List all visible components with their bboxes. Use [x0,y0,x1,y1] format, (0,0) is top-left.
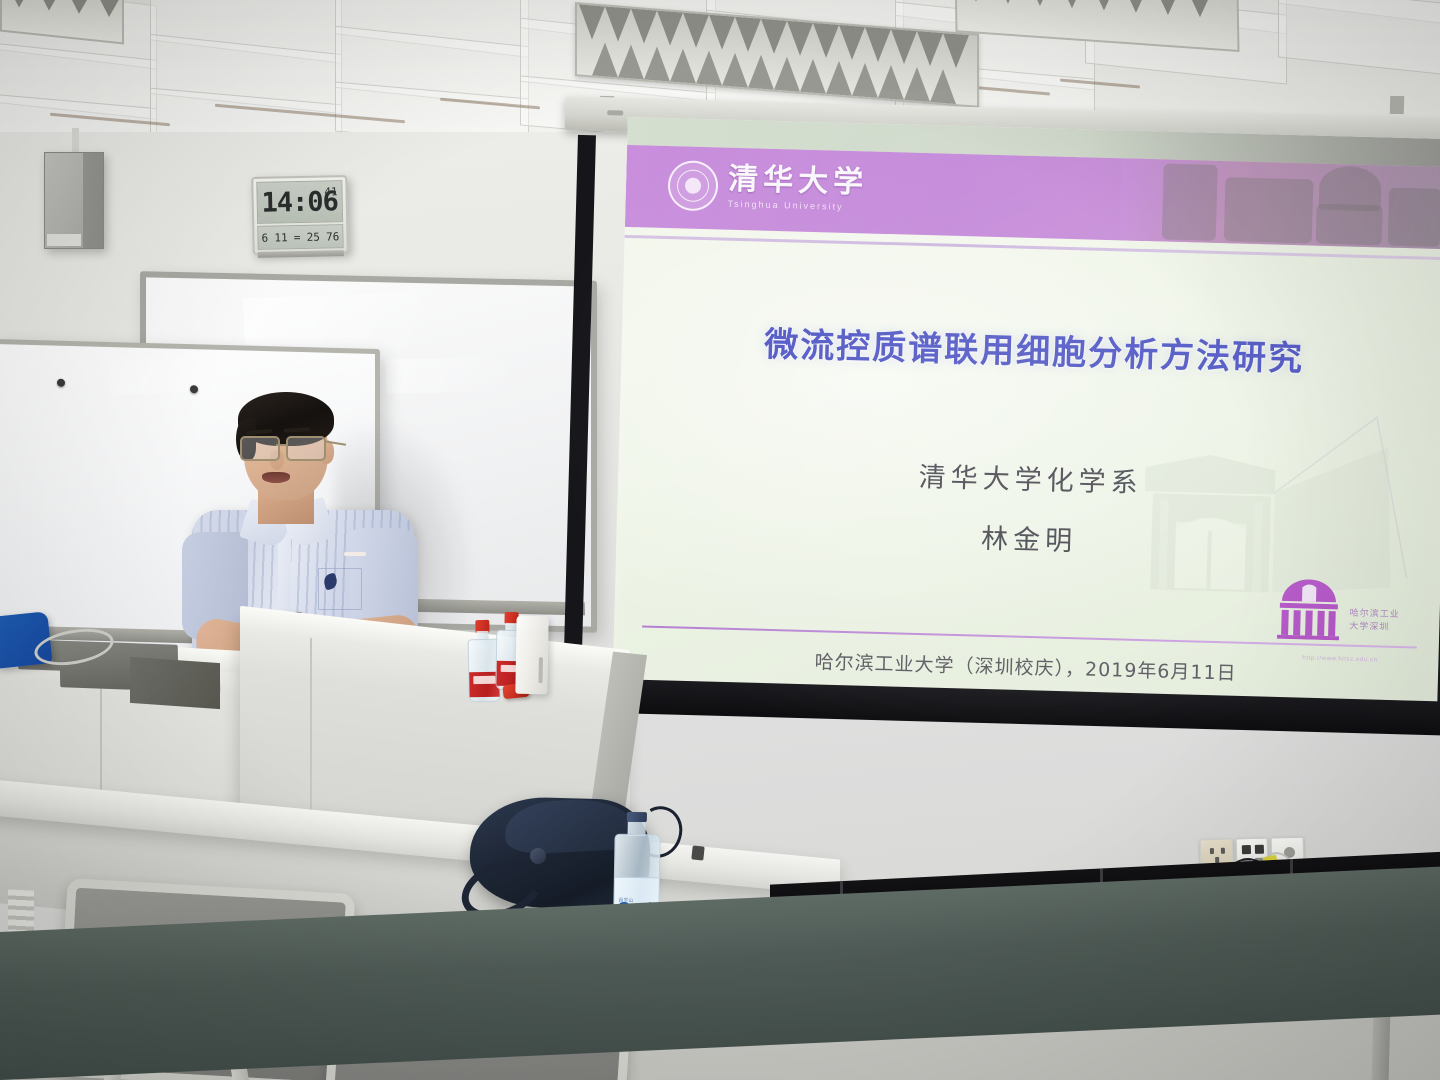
ganten-bottle-cap [627,812,647,822]
clock-sub-display: 6 11 = 25 76 [257,224,343,250]
glasses-lens-left [240,436,280,461]
thermos-flask[interactable] [515,616,548,695]
whiteboard-magnet [57,379,65,387]
small-object-on-table[interactable] [691,845,704,860]
lecture-hall-photo: 14:06 41 6 11 = 25 76 [0,0,1440,1080]
shirt-pocket [318,568,362,610]
clock-main-display: 14:06 41 [256,180,343,224]
tsinghua-wordmark: 清华大学 [728,165,869,199]
hit-logo-line2: 大学深圳 [1349,620,1423,635]
slide-header-campus-photo [1120,158,1440,249]
wall-clock: 14:06 41 6 11 = 25 76 [251,175,349,255]
equipment-box [130,657,220,709]
water-bottle[interactable] [467,620,498,703]
tsinghua-subtitle: Tsinghua University [727,199,867,213]
screen-mount-right [1390,96,1404,114]
clock-date-day: 11 [274,231,288,244]
presenter-glasses [240,436,336,458]
clock-separator: = [294,230,301,243]
projected-slide: 清华大学 Tsinghua University [612,117,1440,709]
clock-seconds: 41 [324,186,338,198]
glasses-lens-right [286,436,326,461]
hit-logo-text: 哈尔滨工业 大学深圳 [1349,607,1424,635]
backpack-buckle [530,848,546,864]
hit-shenzhen-logo [1265,576,1353,640]
clock-temperature: 25 [306,230,320,243]
tsinghua-seal-icon [667,160,718,211]
clock-date-month: 6 [261,231,268,244]
clock-humidity: 76 [326,230,340,243]
tsinghua-logo: 清华大学 Tsinghua University [667,160,868,215]
slide-title: 微流控质谱联用细胞分析方法研究 [621,313,1440,384]
presenter-mouth [262,472,290,483]
wall-speaker [44,152,104,249]
